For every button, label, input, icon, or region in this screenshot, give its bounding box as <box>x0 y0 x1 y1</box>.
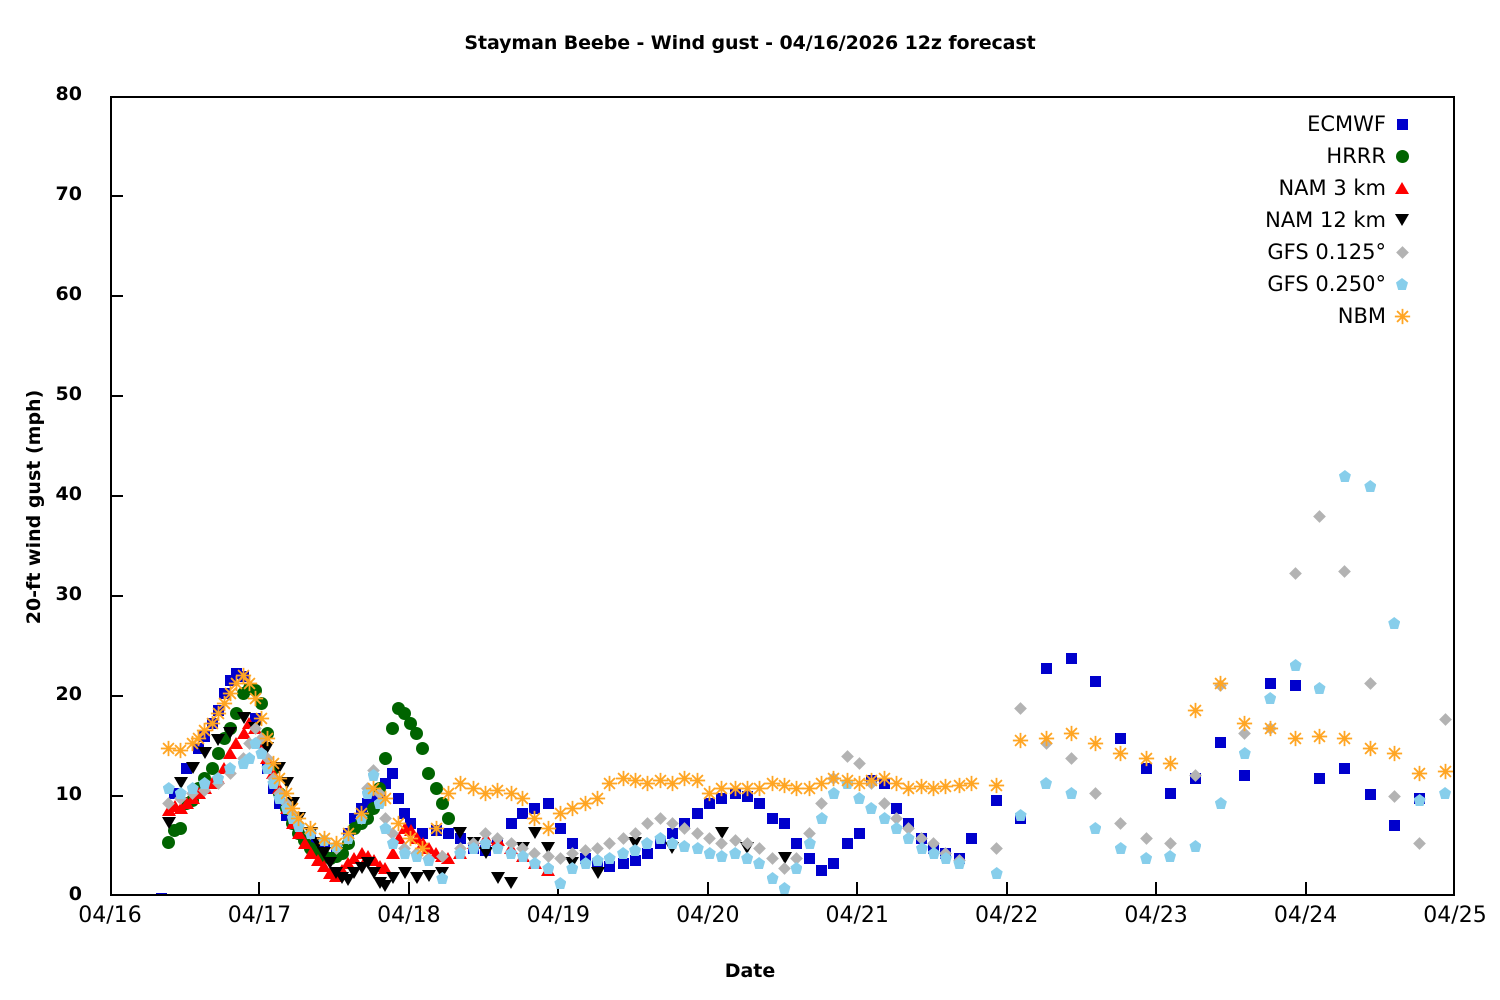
star-marker <box>235 667 252 684</box>
legend-item-nam-3-km[interactable]: NAM 3 km <box>1150 172 1420 204</box>
star-marker <box>160 740 177 757</box>
star-marker <box>664 775 681 792</box>
star-marker <box>328 835 345 852</box>
star-marker <box>1212 675 1229 692</box>
y-tick-label: 70 <box>12 183 82 205</box>
chart-page: Stayman Beebe - Wind gust - 04/16/2026 1… <box>0 0 1500 1000</box>
star-marker <box>1262 720 1279 737</box>
star-marker <box>788 780 805 797</box>
star-marker <box>222 685 239 702</box>
star-marker <box>414 840 431 857</box>
star-marker <box>265 755 282 772</box>
legend-label: NAM 12 km <box>1265 208 1386 232</box>
triangle-up-marker <box>1395 182 1409 194</box>
legend-item-ecmwf[interactable]: ECMWF <box>1150 108 1420 140</box>
star-marker <box>489 782 506 799</box>
star-marker <box>190 730 207 747</box>
legend-marker <box>1394 276 1410 292</box>
star-marker <box>825 770 842 787</box>
star-marker <box>751 780 768 797</box>
legend-marker <box>1394 116 1410 132</box>
star-marker <box>801 780 818 797</box>
legend: ECMWFHRRRNAM 3 kmNAM 12 kmGFS 0.125°GFS … <box>1150 108 1420 332</box>
star-marker <box>184 735 201 752</box>
star-marker <box>988 777 1005 794</box>
star-marker <box>727 780 744 797</box>
star-marker <box>210 705 227 722</box>
star-marker <box>540 820 557 837</box>
star-marker <box>1063 725 1080 742</box>
star-marker <box>247 690 264 707</box>
legend-label: NAM 3 km <box>1278 176 1386 200</box>
star-marker <box>228 675 245 692</box>
star-marker <box>1038 730 1055 747</box>
star-marker <box>428 820 445 837</box>
star-marker <box>925 780 942 797</box>
star-marker <box>888 775 905 792</box>
legend-marker <box>1394 148 1410 164</box>
star-marker <box>526 810 543 827</box>
star-marker <box>477 785 494 802</box>
x-tick-label: 04/18 <box>339 903 479 928</box>
star-marker <box>813 775 830 792</box>
y-tick-label: 40 <box>12 483 82 505</box>
legend-label: GFS 0.250° <box>1267 272 1386 296</box>
diamond-marker <box>1396 246 1409 259</box>
x-tick-label: 04/17 <box>189 903 329 928</box>
legend-item-nam-12-km[interactable]: NAM 12 km <box>1150 204 1420 236</box>
star-marker <box>1112 745 1129 762</box>
star-marker <box>1162 755 1179 772</box>
y-tick-label: 30 <box>12 583 82 605</box>
star-marker <box>951 777 968 794</box>
circle-marker <box>1396 150 1409 163</box>
x-tick-label: 04/21 <box>787 903 927 928</box>
star-marker <box>577 795 594 812</box>
x-tick-label: 04/19 <box>488 903 628 928</box>
y-tick-label: 50 <box>12 383 82 405</box>
star-marker <box>284 800 301 817</box>
star-marker <box>465 780 482 797</box>
star-marker <box>552 805 569 822</box>
legend-item-gfs-0-250[interactable]: GFS 0.250° <box>1150 268 1420 300</box>
star-marker <box>601 775 618 792</box>
star-marker <box>589 790 606 807</box>
star-marker <box>241 675 258 692</box>
legend-label: HRRR <box>1326 144 1386 168</box>
star-marker <box>1362 740 1379 757</box>
y-tick-label: 10 <box>12 783 82 805</box>
star-marker <box>739 780 756 797</box>
x-tick-label: 04/25 <box>1385 903 1500 928</box>
star-marker <box>514 790 531 807</box>
star-marker <box>1087 735 1104 752</box>
star-marker <box>639 775 656 792</box>
star-marker <box>776 777 793 794</box>
star-marker <box>365 780 382 797</box>
star-marker <box>876 770 893 787</box>
legend-marker <box>1394 180 1410 196</box>
star-marker <box>377 790 394 807</box>
legend-label: NBM <box>1338 304 1386 328</box>
x-axis-label: Date <box>0 960 1500 982</box>
star-marker <box>402 830 419 847</box>
star-marker <box>503 785 520 802</box>
star-marker <box>1138 750 1155 767</box>
star-marker <box>196 722 213 739</box>
legend-item-gfs-0-125[interactable]: GFS 0.125° <box>1150 236 1420 268</box>
star-marker <box>1386 745 1403 762</box>
x-tick-label: 04/23 <box>1086 903 1226 928</box>
star-marker <box>302 820 319 837</box>
chart-title: Stayman Beebe - Wind gust - 04/16/2026 1… <box>0 32 1500 54</box>
star-marker <box>271 770 288 787</box>
legend-marker <box>1394 212 1410 228</box>
star-marker <box>216 695 233 712</box>
star-marker <box>1311 728 1328 745</box>
square-marker <box>1397 119 1408 130</box>
legend-item-nbm[interactable]: NBM <box>1150 300 1420 332</box>
star-marker <box>1236 715 1253 732</box>
triangle-down-marker <box>1395 214 1409 226</box>
star-marker <box>340 825 357 842</box>
y-tick-label: 20 <box>12 683 82 705</box>
star-marker <box>615 770 632 787</box>
star-marker <box>390 815 407 832</box>
x-tick-label: 04/22 <box>937 903 1077 928</box>
star-marker <box>440 785 457 802</box>
legend-marker <box>1394 244 1410 260</box>
star-marker <box>259 730 276 747</box>
star-marker <box>1336 730 1353 747</box>
star-marker <box>676 770 693 787</box>
legend-label: GFS 0.125° <box>1267 240 1386 264</box>
legend-item-hrrr[interactable]: HRRR <box>1150 140 1420 172</box>
star-marker <box>863 772 880 789</box>
star-marker <box>316 830 333 847</box>
star-marker <box>839 772 856 789</box>
star-marker <box>900 780 917 797</box>
star-marker <box>701 785 718 802</box>
star-marker <box>1012 732 1029 749</box>
y-tick-label: 0 <box>12 883 82 905</box>
star-marker <box>913 778 930 795</box>
star-marker <box>564 800 581 817</box>
legend-label: ECMWF <box>1307 112 1386 136</box>
star-marker <box>290 810 307 827</box>
star-marker <box>713 780 730 797</box>
star-marker <box>278 785 295 802</box>
star-marker <box>452 775 469 792</box>
star-marker <box>253 710 270 727</box>
star-marker <box>1394 308 1411 325</box>
star-marker <box>353 805 370 822</box>
pentagon-marker <box>1396 278 1408 290</box>
star-marker <box>1187 702 1204 719</box>
star-marker <box>851 775 868 792</box>
star-marker <box>1437 763 1453 780</box>
star-marker <box>627 772 644 789</box>
star-marker <box>937 778 954 795</box>
star-marker <box>764 775 781 792</box>
star-marker <box>204 715 221 732</box>
x-tick-label: 04/16 <box>40 903 180 928</box>
star-marker <box>1287 730 1304 747</box>
star-marker <box>689 772 706 789</box>
y-tick-label: 80 <box>12 83 82 105</box>
legend-marker <box>1394 308 1410 324</box>
x-tick-label: 04/24 <box>1236 903 1376 928</box>
x-tick-label: 04/20 <box>638 903 778 928</box>
star-marker <box>172 742 189 759</box>
star-marker <box>963 775 980 792</box>
star-marker <box>1411 765 1428 782</box>
y-tick-label: 60 <box>12 283 82 305</box>
star-marker <box>652 772 669 789</box>
